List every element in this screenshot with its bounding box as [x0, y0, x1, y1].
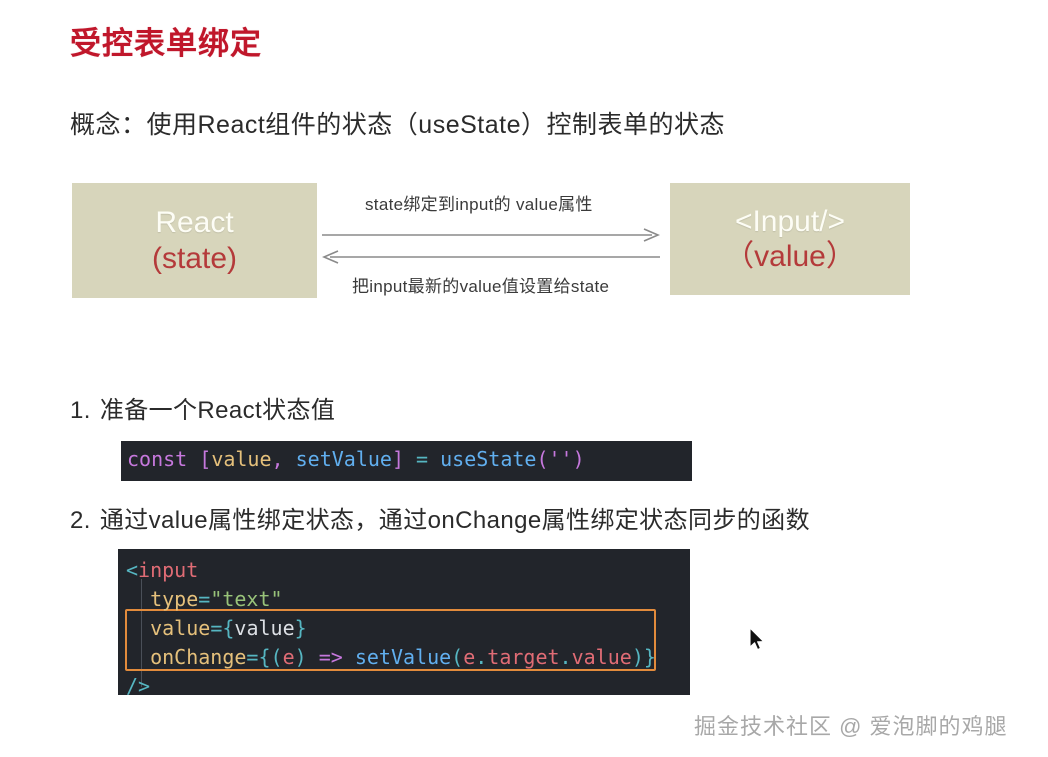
diagram-box-input: <Input/> （value）	[670, 183, 910, 295]
diagram-box-input-subtitle: （value）	[724, 239, 856, 274]
step-2-text: 通过value属性绑定状态，通过onChange属性绑定状态同步的函数	[100, 507, 810, 534]
code2-l3-attr: value	[150, 616, 210, 640]
code2-l4-param: e	[283, 645, 295, 669]
step-1-number: 1.	[70, 397, 91, 424]
code-block-input-jsx[interactable]: <input type="text" value={value} onChang…	[118, 549, 690, 695]
code2-l3-value: value	[234, 616, 294, 640]
step-1: 1.准备一个React状态值	[70, 390, 335, 425]
concept-text: 概念：使用React组件的状态（useState）控制表单的状态	[70, 105, 725, 141]
step-2-number: 2.	[70, 507, 91, 534]
diagram-box-input-title: <Input/>	[735, 204, 845, 239]
code2-l4-dot2: .	[560, 645, 572, 669]
code2-l4-call-open: (	[451, 645, 463, 669]
code2-l2-eq: =	[198, 587, 210, 611]
code-block-usestate[interactable]: const [value, setValue] = useState('')	[121, 441, 692, 481]
arrow-right-icon	[322, 228, 660, 242]
code1-token-setvalue: setValue	[296, 447, 392, 471]
code2-line-1: <input	[126, 557, 690, 586]
code2-line-3: value={value}	[126, 615, 690, 644]
diagram-box-react: React (state)	[72, 183, 317, 298]
diagram-box-react-subtitle: (state)	[152, 241, 237, 276]
code2-l4-call-close: )	[632, 645, 644, 669]
code2-l4-paren-open: (	[271, 645, 283, 669]
code2-l2-string: "text"	[210, 587, 282, 611]
code2-l2-indent	[126, 587, 150, 611]
code1-token-const: const	[127, 447, 187, 471]
code2-l3-indent	[126, 616, 150, 640]
code2-l3-brace-open: {	[222, 616, 234, 640]
code2-l4-obj: e	[463, 645, 475, 669]
code2-l4-brace-open: {	[258, 645, 270, 669]
mouse-cursor-icon	[749, 627, 767, 653]
arrow-label-state-to-input: state绑定到input的 value属性	[365, 190, 593, 215]
code1-token-call: ('')	[536, 447, 584, 471]
code2-l4-fn: setValue	[355, 645, 451, 669]
code2-l3-eq: =	[210, 616, 222, 640]
code2-l4-target: target	[487, 645, 559, 669]
arrow-left-icon	[322, 250, 660, 264]
code2-l4-prop: value	[572, 645, 632, 669]
code2-l4-dot1: .	[475, 645, 487, 669]
code2-l4-indent	[126, 645, 150, 669]
code2-l4-paren-close: )	[295, 645, 307, 669]
code2-line-5: />	[126, 673, 690, 702]
code2-l5-close: />	[126, 674, 150, 698]
code2-l2-attr: type	[150, 587, 198, 611]
watermark: 掘金技术社区 @ 爱泡脚的鸡腿	[694, 709, 1008, 741]
code2-l4-brace-close: }	[644, 645, 656, 669]
code1-space	[187, 447, 199, 471]
code2-l4-arrow: =>	[307, 645, 355, 669]
code1-token-equals: =	[404, 447, 440, 471]
code1-token-usestate: useState	[440, 447, 536, 471]
code1-token-comma: ,	[272, 447, 296, 471]
code2-line-2: type="text"	[126, 586, 690, 615]
code2-l4-attr: onChange	[150, 645, 246, 669]
code1-token-bracket-open: [	[199, 447, 211, 471]
arrow-label-input-to-state: 把input最新的value值设置给state	[352, 272, 609, 297]
code2-l4-eq: =	[246, 645, 258, 669]
page-title: 受控表单绑定	[70, 18, 262, 63]
code2-l3-brace-close: }	[295, 616, 307, 640]
step-2: 2.通过value属性绑定状态，通过onChange属性绑定状态同步的函数	[70, 500, 810, 535]
code2-l1-tag: input	[138, 558, 198, 582]
code1-token-bracket-close: ]	[392, 447, 404, 471]
step-1-text: 准备一个React状态值	[100, 397, 336, 424]
code1-token-value: value	[211, 447, 271, 471]
code2-l1-angle: <	[126, 558, 138, 582]
code2-line-4: onChange={(e) => setValue(e.target.value…	[126, 644, 690, 673]
diagram-box-react-title: React	[155, 205, 233, 240]
